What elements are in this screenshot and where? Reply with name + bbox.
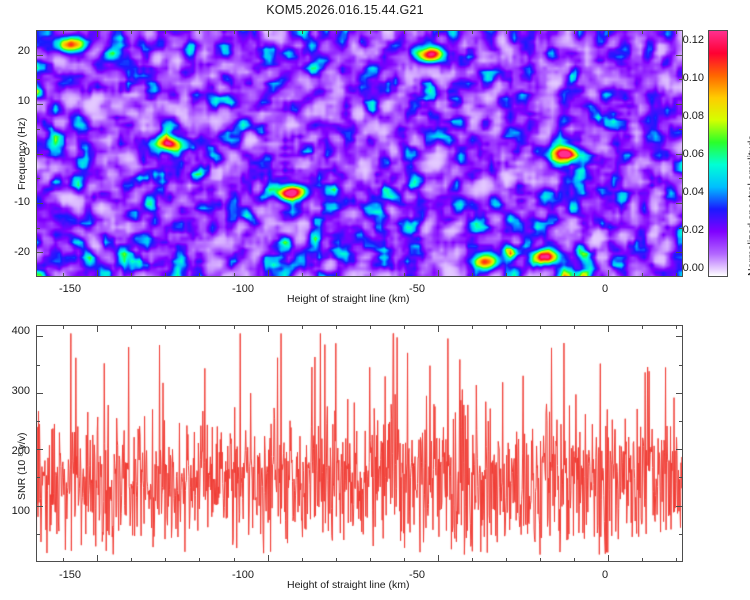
- axis-tick: [36, 203, 43, 204]
- axis-tick: [676, 55, 683, 56]
- axis-tick: [506, 273, 507, 277]
- spec-ytick-0: 20: [2, 45, 30, 57]
- axis-tick: [676, 449, 683, 450]
- snr-xaxis-label: Height of straight line (km): [287, 579, 410, 591]
- axis-tick: [36, 129, 40, 130]
- axis-tick: [199, 558, 200, 562]
- axis-tick: [36, 506, 43, 507]
- axis-tick: [131, 273, 132, 277]
- axis-tick: [676, 506, 683, 507]
- axis-tick: [472, 325, 473, 329]
- axis-tick: [302, 30, 303, 34]
- axis-tick: [199, 30, 200, 34]
- spec-xtick-3: 0: [602, 283, 608, 295]
- axis-tick: [36, 154, 43, 155]
- axis-tick: [131, 325, 132, 329]
- axis-tick: [97, 325, 98, 332]
- axis-tick: [608, 325, 609, 332]
- axis-tick: [36, 55, 43, 56]
- colorbar-tick-2: 0.04: [680, 186, 704, 198]
- axis-tick: [676, 393, 683, 394]
- axis-tick: [36, 365, 40, 366]
- axis-tick: [676, 203, 683, 204]
- axis-tick: [199, 273, 200, 277]
- axis-tick: [36, 393, 43, 394]
- axis-tick: [97, 555, 98, 562]
- axis-tick: [370, 558, 371, 562]
- axis-tick: [131, 558, 132, 562]
- axis-tick: [438, 555, 439, 562]
- snr-ytick-1: 300: [2, 385, 30, 397]
- colorbar: [708, 30, 728, 277]
- axis-tick: [63, 325, 64, 329]
- axis-tick: [679, 365, 683, 366]
- axis-tick: [676, 558, 677, 562]
- axis-tick: [165, 325, 166, 329]
- spec-xtick-0: -150: [59, 283, 81, 295]
- axis-tick: [676, 273, 677, 277]
- snr-trace-plot: [36, 325, 683, 562]
- axis-tick: [234, 30, 235, 34]
- spec-ytick-1: 10: [2, 95, 30, 107]
- axis-tick: [370, 30, 371, 34]
- axis-tick: [36, 534, 40, 535]
- axis-tick: [63, 30, 64, 34]
- spec-xaxis-label: Height of straight line (km): [287, 293, 410, 305]
- axis-tick: [506, 558, 507, 562]
- axis-tick: [268, 30, 269, 37]
- axis-tick: [608, 30, 609, 37]
- axis-tick: [574, 558, 575, 562]
- axis-tick: [574, 273, 575, 277]
- axis-tick: [234, 273, 235, 277]
- axis-tick: [642, 325, 643, 329]
- axis-tick: [540, 273, 541, 277]
- axis-tick: [336, 325, 337, 329]
- axis-tick: [676, 336, 683, 337]
- axis-tick: [676, 104, 683, 105]
- axis-tick: [676, 325, 677, 329]
- axis-tick: [63, 273, 64, 277]
- snr-yaxis-label: SNR (10 ⁸ v/v): [16, 433, 28, 500]
- axis-tick: [404, 30, 405, 34]
- axis-tick: [438, 270, 439, 277]
- axis-tick: [574, 30, 575, 34]
- axis-tick: [679, 477, 683, 478]
- snr-panel: [36, 325, 683, 562]
- axis-tick: [679, 421, 683, 422]
- axis-tick: [302, 558, 303, 562]
- snr-xtick-0: -150: [59, 569, 81, 581]
- colorbar-gradient: [708, 30, 728, 277]
- axis-tick: [438, 325, 439, 332]
- axis-tick: [165, 273, 166, 277]
- colorbar-tick-4: 0.08: [680, 110, 704, 122]
- axis-tick: [540, 558, 541, 562]
- spec-ytick-3: -10: [2, 196, 30, 208]
- spec-yaxis-label: Frequency (Hz): [16, 118, 28, 190]
- spec-xtick-1: -100: [232, 283, 254, 295]
- axis-tick: [302, 325, 303, 329]
- axis-tick: [234, 558, 235, 562]
- axis-tick: [268, 270, 269, 277]
- colorbar-axis-label: Normalized spectral amplitude: [746, 135, 750, 276]
- axis-tick: [608, 270, 609, 277]
- axis-tick: [676, 252, 683, 253]
- axis-tick: [676, 30, 677, 34]
- colorbar-tick-3: 0.06: [680, 148, 704, 160]
- axis-tick: [404, 558, 405, 562]
- axis-tick: [97, 270, 98, 277]
- axis-tick: [472, 30, 473, 34]
- axis-tick: [199, 325, 200, 329]
- axis-tick: [370, 273, 371, 277]
- axis-tick: [642, 30, 643, 34]
- axis-tick: [540, 325, 541, 329]
- axis-tick: [506, 325, 507, 329]
- snr-ytick-3: 100: [2, 505, 30, 517]
- axis-tick: [679, 129, 683, 130]
- colorbar-tick-1: 0.02: [680, 224, 704, 236]
- axis-tick: [642, 273, 643, 277]
- axis-tick: [336, 273, 337, 277]
- figure-container: KOM5.2026.016.15.44.G21 20 10 0 -10 -20 …: [0, 0, 750, 600]
- snr-xtick-3: 0: [602, 569, 608, 581]
- axis-tick: [36, 336, 43, 337]
- axis-tick: [131, 30, 132, 34]
- colorbar-tick-6: 0.12: [680, 34, 704, 46]
- axis-tick: [36, 477, 40, 478]
- snr-ytick-0: 400: [2, 325, 30, 337]
- axis-tick: [268, 325, 269, 332]
- spec-ytick-4: -20: [2, 246, 30, 258]
- axis-tick: [404, 325, 405, 329]
- axis-tick: [36, 252, 43, 253]
- snr-xtick-1: -100: [232, 569, 254, 581]
- axis-tick: [234, 325, 235, 329]
- axis-tick: [36, 178, 40, 179]
- axis-tick: [165, 30, 166, 34]
- axis-tick: [336, 558, 337, 562]
- axis-tick: [302, 273, 303, 277]
- axis-tick: [165, 558, 166, 562]
- axis-tick: [36, 104, 43, 105]
- axis-tick: [679, 534, 683, 535]
- axis-tick: [438, 30, 439, 37]
- axis-tick: [97, 30, 98, 37]
- axis-tick: [63, 558, 64, 562]
- figure-title: KOM5.2026.016.15.44.G21: [0, 3, 690, 17]
- spectrogram-panel: [36, 30, 683, 277]
- axis-tick: [36, 449, 43, 450]
- axis-tick: [36, 79, 40, 80]
- spec-xtick-2: -50: [409, 283, 425, 295]
- axis-tick: [36, 421, 40, 422]
- axis-tick: [540, 30, 541, 34]
- axis-tick: [574, 325, 575, 329]
- axis-tick: [472, 558, 473, 562]
- axis-tick: [404, 273, 405, 277]
- axis-tick: [36, 228, 40, 229]
- colorbar-tick-0: 0.00: [680, 262, 704, 274]
- axis-tick: [370, 325, 371, 329]
- axis-tick: [679, 178, 683, 179]
- axis-tick: [642, 558, 643, 562]
- axis-tick: [336, 30, 337, 34]
- axis-tick: [472, 273, 473, 277]
- spectrogram-image: [36, 30, 683, 277]
- axis-tick: [608, 555, 609, 562]
- axis-tick: [506, 30, 507, 34]
- snr-xtick-2: -50: [409, 569, 425, 581]
- axis-tick: [268, 555, 269, 562]
- colorbar-tick-5: 0.10: [680, 72, 704, 84]
